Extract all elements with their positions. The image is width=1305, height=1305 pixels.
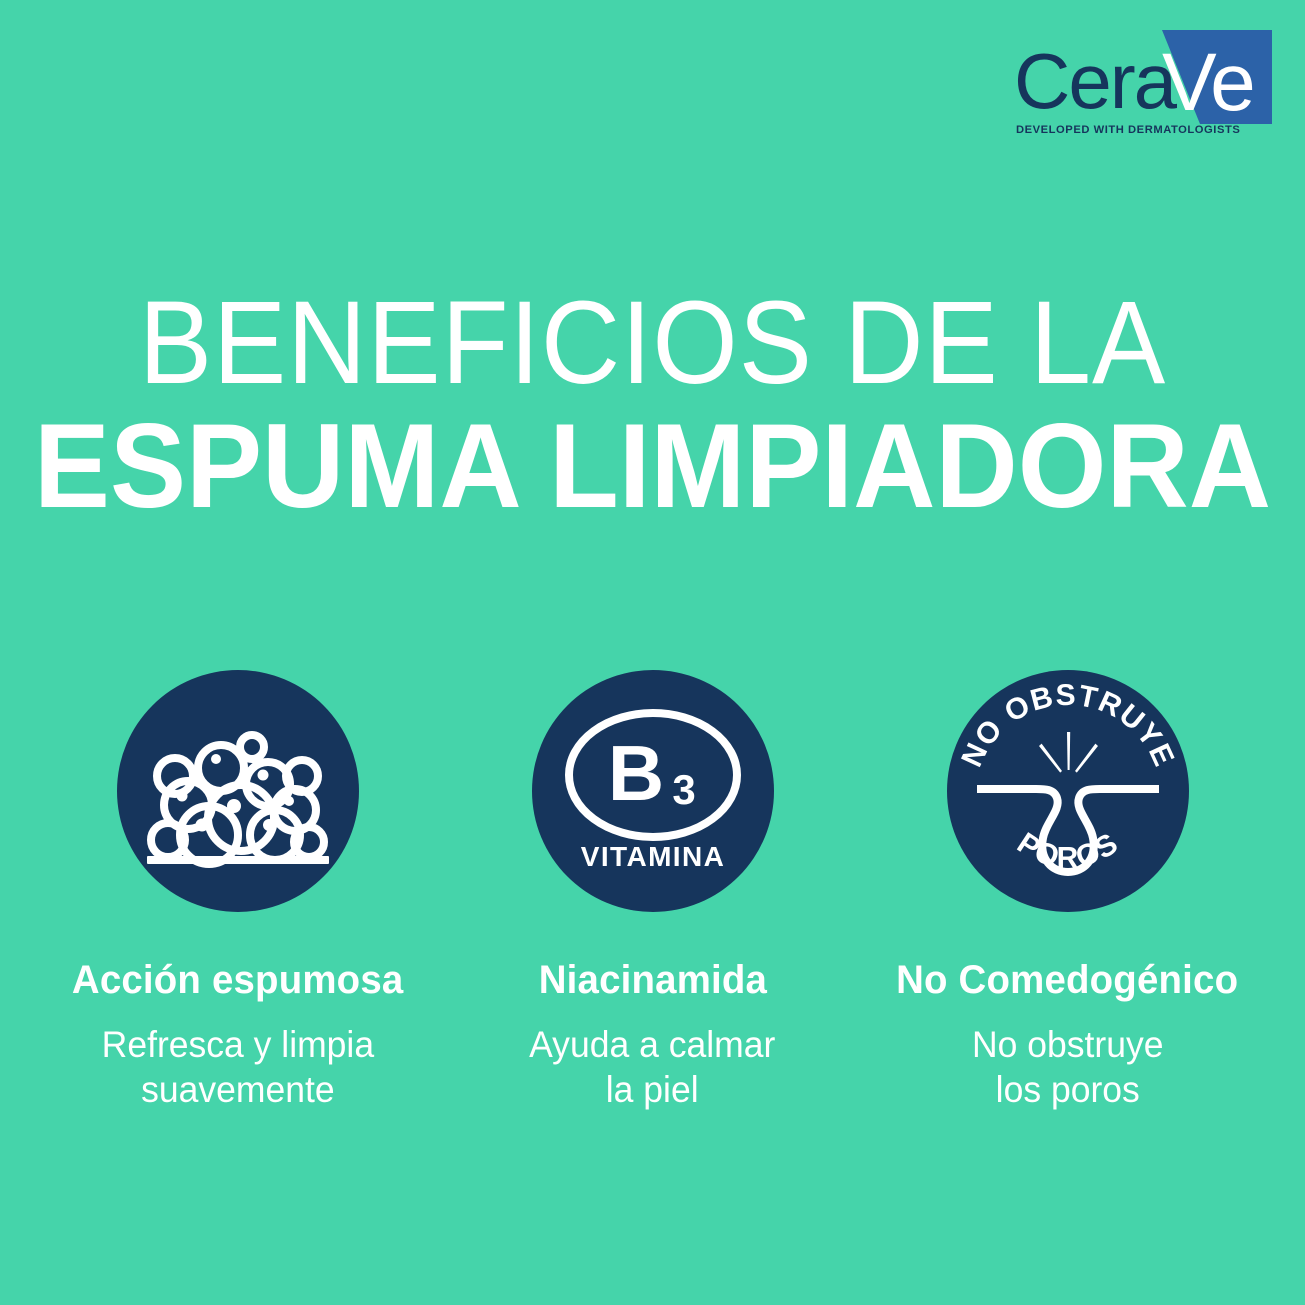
vitamin-b-letter: B	[607, 729, 663, 817]
vitamin-badge: B 3 VITAMINA	[532, 670, 774, 912]
foam-baseline	[147, 856, 329, 864]
non-comedogenic-pore-icon: NO OBSTRUYE POROS	[947, 670, 1189, 912]
logo-ve-text: Ve	[1162, 37, 1254, 128]
benefit-desc-niacinamide: Ayuda a calmar la piel	[529, 1022, 775, 1112]
pore-spark-lines	[1039, 732, 1098, 773]
pore-arc-bottom-text: POROS	[1011, 827, 1124, 875]
benefit-desc-foam: Refresca y limpia suavemente	[101, 1022, 373, 1112]
benefit-title-noncomedogenic: No Comedogénico	[896, 958, 1238, 1002]
benefits-row: Acción espumosa Refresca y limpia suavem…	[30, 670, 1275, 1112]
benefit-desc-noncomedogenic: No obstruye los poros	[972, 1022, 1164, 1112]
headline-line-1: BENEFICIOS DE LA	[46, 283, 1260, 405]
vitamin-caption: VITAMINA	[580, 841, 724, 872]
headline-line-2: ESPUMA LIMPIADORA	[33, 405, 1273, 529]
foam-badge	[117, 670, 359, 912]
benefit-card-noncomedogenic: NO OBSTRUYE POROS	[860, 670, 1275, 1112]
pore-skin-line-right	[1100, 785, 1159, 793]
vitamin-subscript-3: 3	[672, 766, 695, 813]
promo-poster: Cera Ve DEVELOPED WITH DERMATOLOGISTS BE…	[0, 0, 1305, 1305]
benefit-card-niacinamide: B 3 VITAMINA Niacinamida Ayuda a calmar …	[445, 670, 860, 1112]
benefit-title-foam: Acción espumosa	[72, 958, 404, 1002]
foam-bubbles-icon	[117, 670, 359, 912]
benefit-card-foam: Acción espumosa Refresca y limpia suavem…	[30, 670, 445, 1112]
page-title: BENEFICIOS DE LA ESPUMA LIMPIADORA	[0, 283, 1305, 528]
cerave-logo-svg: Cera Ve DEVELOPED WITH DERMATOLOGISTS	[1010, 28, 1272, 140]
pore-skin-line-left	[977, 785, 1036, 793]
vitamin-b3-icon: B 3 VITAMINA	[532, 670, 774, 912]
logo-cera-text: Cera	[1014, 37, 1178, 125]
logo-tagline: DEVELOPED WITH DERMATOLOGISTS	[1016, 124, 1240, 136]
benefit-title-niacinamide: Niacinamida	[538, 958, 766, 1002]
cerave-logo: Cera Ve DEVELOPED WITH DERMATOLOGISTS	[1010, 28, 1272, 140]
pore-badge: NO OBSTRUYE POROS	[947, 670, 1189, 912]
